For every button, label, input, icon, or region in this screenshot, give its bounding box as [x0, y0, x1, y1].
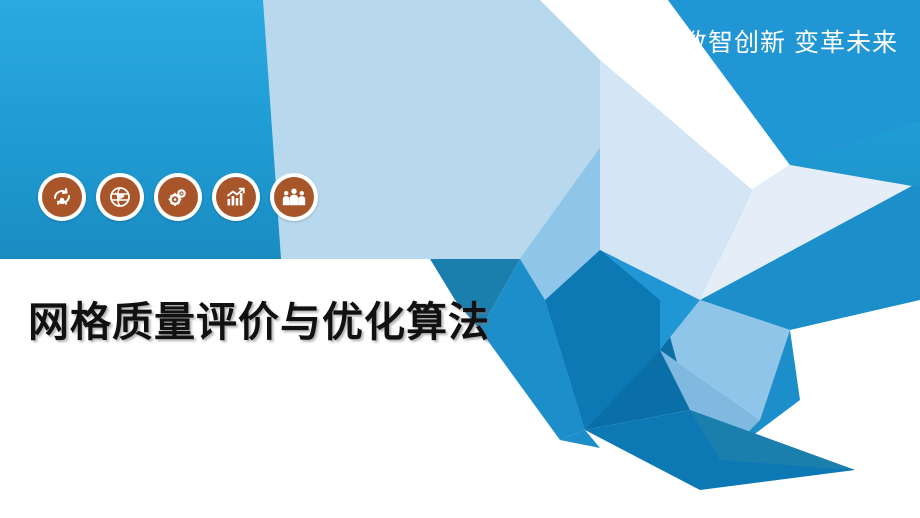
recycle-arrows-icon — [42, 177, 82, 217]
bar-chart-growth-icon — [216, 177, 256, 217]
gears-icon — [158, 177, 198, 217]
page-title: 网格质量评价与优化算法 — [28, 298, 490, 346]
people-group-icon — [274, 177, 314, 217]
icon-badge-recycle[interactable] — [38, 173, 86, 221]
icon-badge-chart[interactable] — [212, 173, 260, 221]
icon-badge-globe[interactable] — [96, 173, 144, 221]
tagline: 数智创新 变革未来 — [682, 27, 898, 59]
title-slide: 数智创新 变革未来 — [0, 0, 920, 518]
icon-badge-gears[interactable] — [154, 173, 202, 221]
icon-row — [38, 173, 318, 221]
icon-badge-people[interactable] — [270, 173, 318, 221]
globe-icon — [100, 177, 140, 217]
low-poly-artwork — [0, 0, 920, 518]
